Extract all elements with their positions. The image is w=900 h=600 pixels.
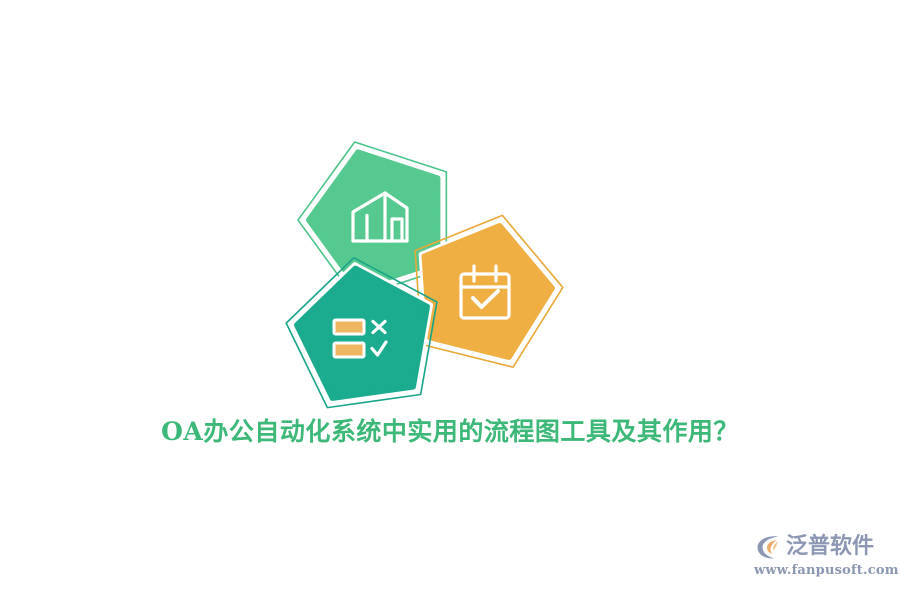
- brand-watermark: 泛普软件 www.fanpusoft.com: [754, 530, 886, 586]
- pentagon-cluster-illustration: [270, 125, 570, 405]
- page-title: OA办公自动化系统中实用的流程图工具及其作用？: [0, 415, 900, 449]
- checklist-bar-2: [334, 343, 364, 357]
- checklist-bar-1: [334, 320, 364, 334]
- brand-name: 泛普软件: [786, 532, 874, 562]
- watermark-logo-row: 泛普软件: [754, 530, 886, 564]
- page-root: OA办公自动化系统中实用的流程图工具及其作用？ 泛普软件 www.fanpuso…: [0, 0, 900, 600]
- brand-url: www.fanpusoft.com: [754, 563, 886, 578]
- fanpu-logo-icon: [754, 532, 784, 562]
